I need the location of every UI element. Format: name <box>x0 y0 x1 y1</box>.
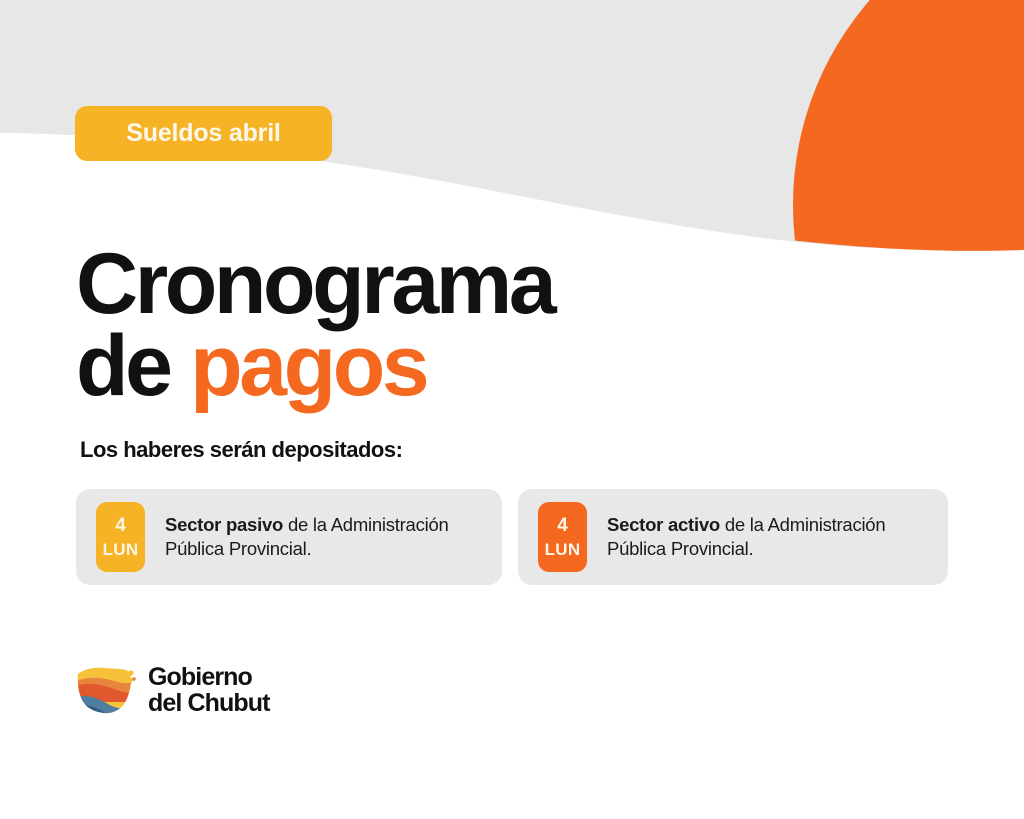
logo-wordmark: Gobierno del Chubut <box>148 664 270 717</box>
orange-circle <box>793 0 1024 517</box>
payment-card-activo: 4 LUN Sector activo de la Administración… <box>518 489 948 585</box>
payment-card-pasivo: 4 LUN Sector pasivo de la Administración… <box>76 489 502 585</box>
date-badge-weekday: LUN <box>545 541 581 558</box>
headline-line-2: de pagos <box>76 326 716 408</box>
logo-line-2: del Chubut <box>148 690 270 717</box>
sueldos-pill: Sueldos abril <box>75 106 332 161</box>
page-title: Cronograma de pagos <box>76 244 716 407</box>
headline-line-2-accent: pagos <box>190 318 426 414</box>
poster-canvas: Sueldos abril Cronograma de pagos Los ha… <box>0 0 1024 819</box>
headline-line-2-plain: de <box>76 318 190 414</box>
date-badge-weekday: LUN <box>103 541 139 558</box>
orange-circle-lower <box>793 78 1024 247</box>
payment-card-text-activo: Sector activo de la Administración Públi… <box>607 513 934 560</box>
date-badge-pasivo: 4 LUN <box>96 502 145 572</box>
gobierno-del-chubut-logo: Gobierno del Chubut <box>74 662 270 718</box>
date-badge-day: 4 <box>557 516 568 535</box>
subtitle-text: Los haberes serán depositados: <box>80 437 402 463</box>
sueldos-pill-label: Sueldos abril <box>126 121 280 146</box>
payment-card-sector-pasivo: Sector pasivo <box>165 514 283 535</box>
payment-card-sector-activo: Sector activo <box>607 514 720 535</box>
date-badge-day: 4 <box>115 516 126 535</box>
payment-card-text-pasivo: Sector pasivo de la Administración Públi… <box>165 513 488 560</box>
date-badge-activo: 4 LUN <box>538 502 587 572</box>
logo-line-1: Gobierno <box>148 664 270 691</box>
headline-line-1: Cronograma <box>76 244 716 326</box>
chubut-map-icon <box>74 662 138 718</box>
payment-cards-row: 4 LUN Sector pasivo de la Administración… <box>76 489 948 585</box>
